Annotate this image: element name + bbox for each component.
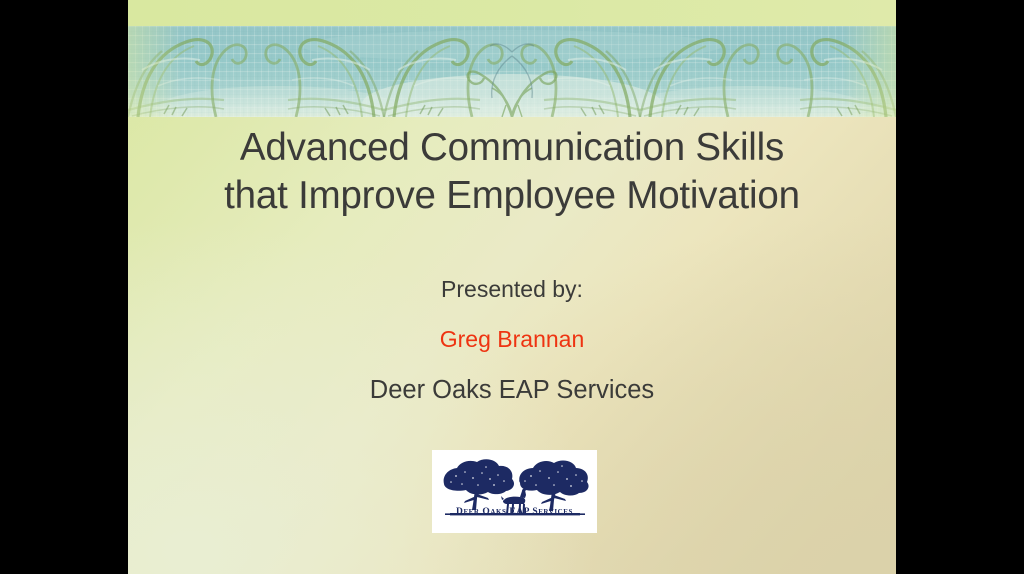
title-line-2: that Improve Employee Motivation: [128, 172, 896, 220]
presentation-slide: Advanced Communication Skills that Impro…: [128, 0, 896, 574]
video-viewport: Advanced Communication Skills that Impro…: [0, 0, 1024, 574]
title-line-1: Advanced Communication Skills: [128, 124, 896, 172]
presenter-name: Greg Brannan: [128, 324, 896, 354]
organization-name: Deer Oaks EAP Services: [128, 374, 896, 406]
slide-top-green-band: [128, 0, 896, 26]
deer-oaks-logo: Deer Oaks EAP Services: [432, 450, 597, 533]
presented-by-label: Presented by:: [128, 274, 896, 304]
banner-artwork: [128, 26, 896, 117]
slide-title: Advanced Communication Skills that Impro…: [128, 124, 896, 220]
presenter-block: Presented by: Greg Brannan Deer Oaks EAP…: [128, 274, 896, 406]
deer-oaks-logo-artwork: [432, 450, 597, 533]
logo-caption: Deer Oaks EAP Services: [432, 507, 597, 517]
letterbox-bar-left: [0, 0, 128, 574]
decorative-botanical-banner: [128, 26, 896, 117]
letterbox-bar-right: [896, 0, 1024, 574]
